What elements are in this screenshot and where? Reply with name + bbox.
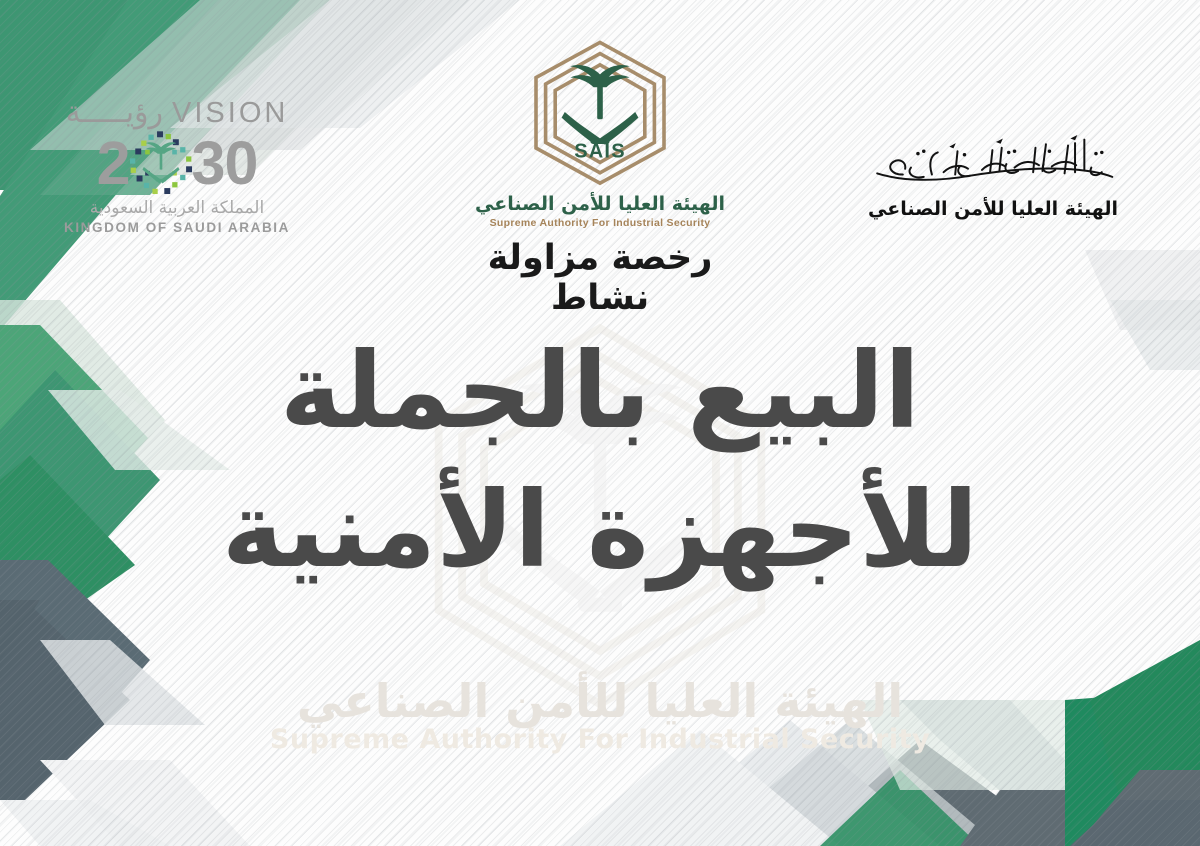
sais-name-english: Supreme Authority For Industrial Securit… — [433, 217, 767, 229]
certificate-header: VISION رؤيـــــة 30 — [0, 0, 1200, 270]
kingdom-of-saudi-arabia-calligraphy-icon — [864, 128, 1122, 192]
vision-word: VISION — [172, 99, 288, 128]
vision-word-arabic: رؤيـــــة — [66, 98, 163, 128]
license-certificate: VISION رؤيـــــة 30 — [0, 0, 1200, 846]
vision-year-right-digits: 30 — [192, 133, 258, 194]
sais-hexagon-palm-swords-icon: SAIS — [520, 36, 680, 196]
svg-text:SAIS: SAIS — [574, 141, 625, 163]
vision-kingdom-english: KINGDOM OF SAUDI ARABIA — [62, 220, 292, 235]
kingdom-calligraphy-block: الهيئة العليا للأمن الصناعي — [848, 128, 1138, 221]
license-type-label: رخصة مزاولة نشاط — [433, 238, 767, 319]
sais-authority-logo: SAIS الهيئة العليا للأمن الصناعي Supreme… — [433, 36, 767, 318]
sais-name-arabic: الهيئة العليا للأمن الصناعي — [433, 194, 767, 215]
vision-kingdom-arabic: المملكة العربية السعودية — [62, 199, 292, 218]
vision-year-left-digit: 2 — [97, 133, 130, 194]
kingdom-authority-arabic: الهيئة العليا للأمن الصناعي — [848, 198, 1138, 221]
vision-2030-logo: VISION رؤيـــــة 30 — [62, 96, 292, 235]
saudi-emblem-mosaic-icon — [128, 130, 194, 196]
